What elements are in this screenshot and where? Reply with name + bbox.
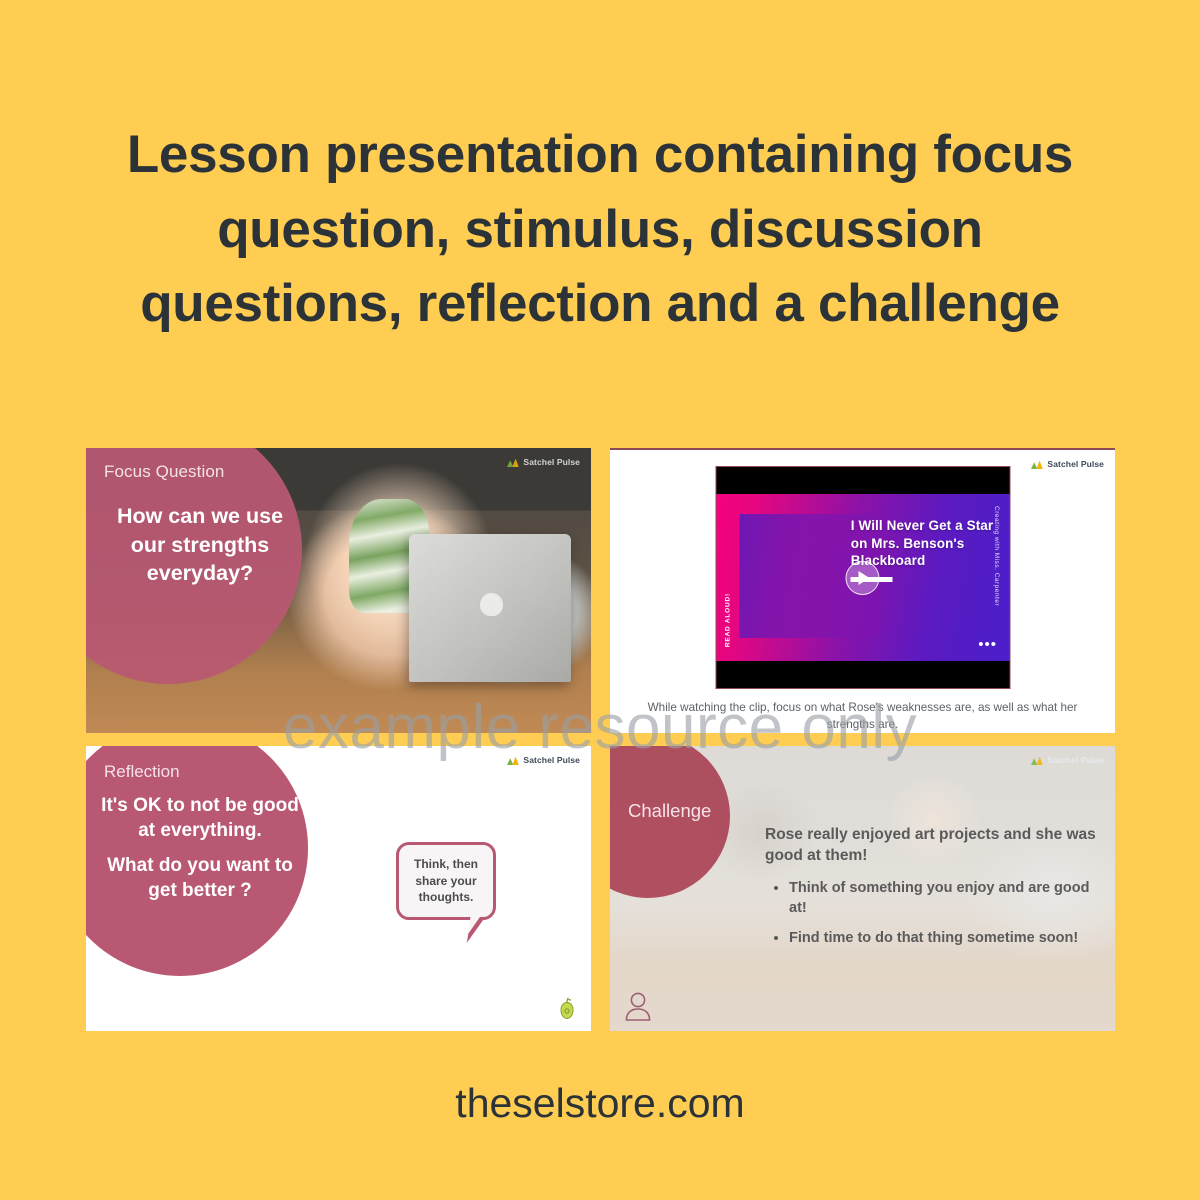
person-icon (624, 991, 652, 1021)
slide-challenge[interactable]: Challenge Satchel Pulse Rose really enjo… (610, 746, 1115, 1031)
play-icon[interactable] (846, 561, 880, 595)
logo-text: Satchel Pulse (523, 457, 580, 467)
logo-text: Satchel Pulse (1047, 459, 1104, 469)
slide-focus-question[interactable]: Focus Question How can we use our streng… (86, 448, 591, 733)
satchel-pulse-mark (1031, 756, 1043, 765)
logo-text: Satchel Pulse (1047, 755, 1104, 765)
focus-question-text: How can we use our strengths everyday? (110, 502, 290, 588)
stimulus-caption: While watching the clip, focus on what R… (610, 700, 1115, 733)
satchel-pulse-mark (1031, 460, 1043, 469)
video-read-aloud-badge: READ ALOUD! (724, 593, 731, 647)
challenge-heading: Rose really enjoyed art projects and she… (765, 824, 1097, 866)
satchel-pulse-logo: Satchel Pulse (1031, 459, 1104, 469)
slide-kicker-reflection: Reflection (104, 762, 180, 782)
footer-url: theselstore.com (0, 1080, 1200, 1127)
speech-bubble-text: Think, then share your thoughts. (407, 856, 485, 905)
slide-reflection[interactable]: Satchel Pulse Reflection It's OK to not … (86, 746, 591, 1031)
reflection-statement: It's OK to not be good at everything. (96, 794, 304, 843)
laptop-graphic (409, 534, 571, 682)
reflection-text-block: It's OK to not be good at everything. Wh… (96, 794, 304, 904)
satchel-pulse-mark (507, 458, 519, 467)
satchel-pulse-mark (507, 756, 519, 765)
list-item: Think of something you enjoy and are goo… (789, 878, 1097, 918)
logo-text: Satchel Pulse (523, 755, 580, 765)
list-item: Find time to do that thing sometime soon… (789, 928, 1097, 948)
satchel-pulse-logo: Satchel Pulse (507, 457, 580, 467)
challenge-bullet-list: Think of something you enjoy and are goo… (765, 878, 1097, 948)
slide-kicker-challenge: Challenge (628, 800, 711, 822)
reflection-question: What do you want to get better ? (96, 854, 304, 903)
video-embed[interactable]: READ ALOUD! Creating with Miss. Carpente… (715, 466, 1010, 689)
challenge-body: Rose really enjoyed art projects and she… (765, 824, 1097, 958)
page-title: Lesson presentation containing focus que… (0, 118, 1200, 342)
satchel-pulse-logo: Satchel Pulse (507, 755, 580, 765)
video-menu-icon[interactable]: ••• (978, 642, 997, 648)
slide-kicker-focus-question: Focus Question (104, 462, 224, 482)
video-thumbnail: READ ALOUD! Creating with Miss. Carpente… (716, 494, 1009, 661)
slide-grid: Focus Question How can we use our streng… (86, 448, 1115, 1031)
pear-icon (557, 997, 577, 1021)
satchel-pulse-logo: Satchel Pulse (1031, 755, 1104, 765)
speech-bubble: Think, then share your thoughts. (396, 842, 496, 920)
slide-stimulus[interactable]: Satchel Pulse READ ALOUD! Creating with … (610, 448, 1115, 733)
